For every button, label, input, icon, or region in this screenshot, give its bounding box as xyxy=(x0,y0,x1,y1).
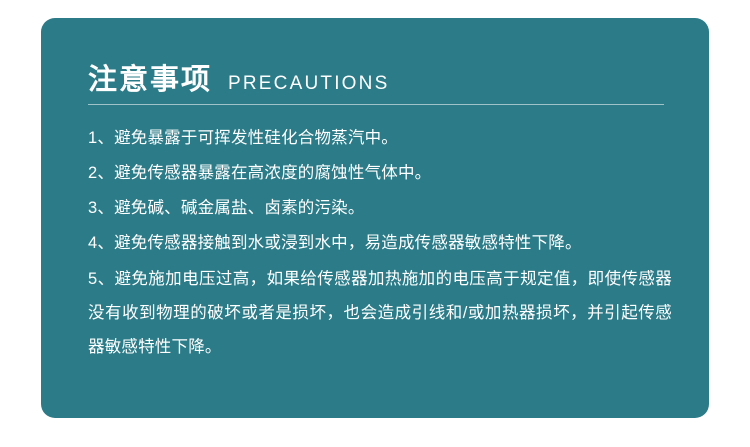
list-item: 2、避免传感器暴露在高浓度的腐蚀性气体中。 xyxy=(88,157,672,190)
panel-title-cn: 注意事项 xyxy=(88,66,212,95)
list-item: 1、避免暴露于可挥发性硅化合物蒸汽中。 xyxy=(88,122,672,155)
list-item: 5、避免施加电压过高，如果给传感器加热施加的电压高于规定值，即使传感器没有收到物… xyxy=(88,262,672,364)
list-item: 3、避免碱、碱金属盐、卤素的污染。 xyxy=(88,192,672,225)
panel-title-en: PRECAUTIONS xyxy=(228,74,389,93)
list-item: 4、避免传感器接触到水或浸到水中，易造成传感器敏感特性下降。 xyxy=(88,227,672,260)
page-root: 注意事项 PRECAUTIONS 1、避免暴露于可挥发性硅化合物蒸汽中。 2、避… xyxy=(0,0,750,447)
panel-title: 注意事项 PRECAUTIONS xyxy=(88,66,389,95)
title-divider xyxy=(88,104,664,105)
precautions-list: 1、避免暴露于可挥发性硅化合物蒸汽中。 2、避免传感器暴露在高浓度的腐蚀性气体中… xyxy=(88,122,672,366)
precautions-panel: 注意事项 PRECAUTIONS 1、避免暴露于可挥发性硅化合物蒸汽中。 2、避… xyxy=(41,18,709,418)
